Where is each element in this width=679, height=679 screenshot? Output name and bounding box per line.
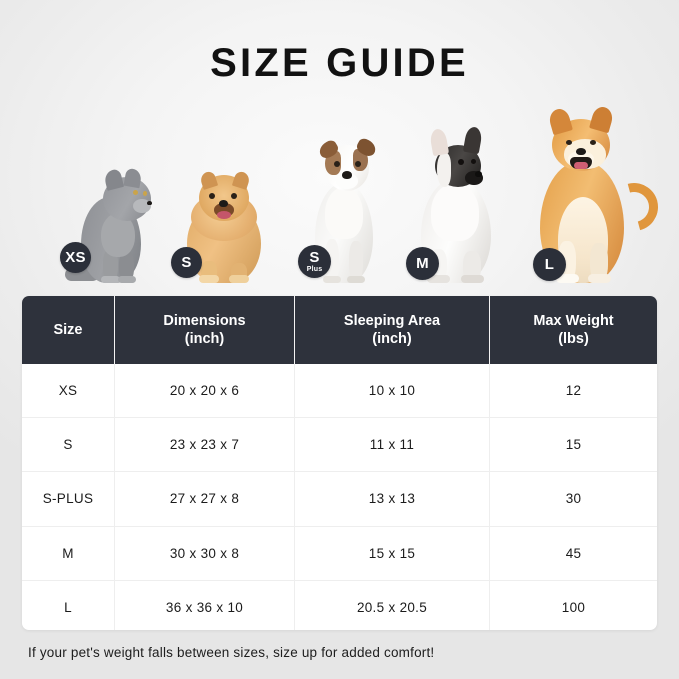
cell-dimensions: 36 x 36 x 10 — [115, 581, 295, 630]
cell-sleeping-area: 20.5 x 20.5 — [295, 581, 490, 630]
size-badge-s: S — [171, 247, 202, 278]
size-guide-page: SIZE GUIDE — [0, 0, 679, 679]
cell-max-weight: 45 — [490, 527, 657, 580]
animal-figure-m: M — [398, 121, 513, 283]
size-badge-m: M — [406, 247, 439, 280]
column-header-dimensions: Dimensions (inch) — [115, 296, 295, 364]
size-badge-s-plus: S Plus — [298, 245, 331, 278]
cell-sleeping-area: 13 x 13 — [295, 472, 490, 525]
column-header-sleeping-area-line2: (inch) — [344, 330, 440, 348]
size-badge-sublabel: Plus — [307, 266, 323, 273]
column-header-max-weight-line1: Max Weight — [533, 312, 613, 330]
animal-figure-s-plus: S Plus — [292, 125, 402, 283]
cell-size: M — [22, 527, 115, 580]
animal-figure-l: L — [512, 95, 647, 283]
cell-dimensions: 23 x 23 x 7 — [115, 418, 295, 471]
table-header-row: Size Dimensions (inch) Sleeping Area (in… — [22, 296, 657, 364]
table-row: L 36 x 36 x 10 20.5 x 20.5 100 — [22, 580, 657, 630]
column-header-size: Size — [22, 296, 115, 364]
page-title: SIZE GUIDE — [0, 43, 679, 83]
table-row: XS 20 x 20 x 6 10 x 10 12 — [22, 364, 657, 417]
cell-max-weight: 100 — [490, 581, 657, 630]
cell-size: S — [22, 418, 115, 471]
cell-sleeping-area: 10 x 10 — [295, 364, 490, 417]
column-header-dimensions-line1: Dimensions — [163, 312, 245, 330]
size-badge-l: L — [533, 248, 566, 281]
table-row: M 30 x 30 x 8 15 x 15 45 — [22, 526, 657, 580]
size-badge-label: L — [545, 257, 554, 272]
footer-note: If your pet's weight falls between sizes… — [28, 645, 434, 660]
cell-size: L — [22, 581, 115, 630]
column-header-sleeping-area: Sleeping Area (inch) — [295, 296, 490, 364]
animal-size-illustrations: XS — [0, 88, 679, 283]
cell-size: S-PLUS — [22, 472, 115, 525]
cell-max-weight: 12 — [490, 364, 657, 417]
table-row: S-PLUS 27 x 27 x 8 13 x 13 30 — [22, 471, 657, 525]
column-header-sleeping-area-line1: Sleeping Area — [344, 312, 440, 330]
table-body: XS 20 x 20 x 6 10 x 10 12 S 23 x 23 x 7 … — [22, 364, 657, 630]
column-header-dimensions-line2: (inch) — [163, 330, 245, 348]
size-badge-label: XS — [65, 250, 86, 265]
cell-dimensions: 20 x 20 x 6 — [115, 364, 295, 417]
animal-figure-xs: XS — [60, 161, 170, 283]
cell-max-weight: 30 — [490, 472, 657, 525]
cell-sleeping-area: 15 x 15 — [295, 527, 490, 580]
column-header-max-weight-line2: (lbs) — [533, 330, 613, 348]
cell-dimensions: 27 x 27 x 8 — [115, 472, 295, 525]
size-badge-label: S — [181, 255, 191, 270]
cell-max-weight: 15 — [490, 418, 657, 471]
size-badge-xs: XS — [60, 242, 91, 273]
cell-sleeping-area: 11 x 11 — [295, 418, 490, 471]
cell-size: XS — [22, 364, 115, 417]
size-badge-label: M — [416, 256, 429, 271]
size-table: Size Dimensions (inch) Sleeping Area (in… — [22, 296, 657, 630]
column-header-max-weight: Max Weight (lbs) — [490, 296, 657, 364]
column-header-size-line1: Size — [53, 322, 82, 338]
table-row: S 23 x 23 x 7 11 x 11 15 — [22, 417, 657, 471]
cell-dimensions: 30 x 30 x 8 — [115, 527, 295, 580]
size-badge-label: S — [309, 250, 319, 265]
animal-figure-s: S — [168, 155, 280, 283]
